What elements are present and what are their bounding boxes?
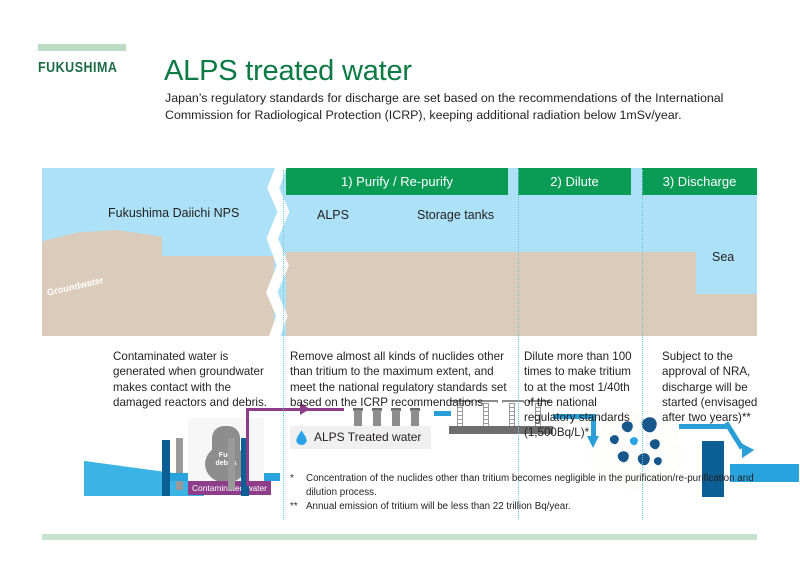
process-diagram: 1) Purify / Re-purify 2) Dilute 3) Disch… — [42, 168, 757, 336]
description-column-dilute: Dilute more than 100 times to make triti… — [524, 349, 636, 441]
support-pile-right — [228, 438, 235, 490]
column-divider-3 — [642, 170, 643, 520]
column-text: Remove almost all kinds of nuclides othe… — [290, 349, 510, 410]
logo-accent-bar — [38, 44, 126, 51]
fuel-debris-label: Fuel debris — [209, 452, 243, 468]
footnote-text: Concentration of the nuclides other than… — [306, 472, 770, 500]
step-header-purify: 1) Purify / Re-purify — [286, 168, 508, 195]
footnotes: * Concentration of the nuclides other th… — [290, 472, 770, 514]
page-title: ALPS treated water — [164, 55, 412, 88]
water-drop-icon — [296, 430, 307, 445]
footnote-single-asterisk: * Concentration of the nuclides other th… — [290, 472, 770, 500]
bottom-accent-rule — [42, 534, 757, 540]
terrain-right — [286, 252, 696, 336]
column-divider-2 — [518, 170, 519, 520]
label-fukushima-daiichi-nps: Fukushima Daiichi NPS — [108, 206, 239, 220]
alps-treated-water-badge: ALPS Treated water — [290, 426, 431, 449]
fukushima-logo: FUKUSHIMA — [38, 44, 128, 76]
terrain-left — [42, 256, 274, 336]
seawall-pile-left — [162, 440, 170, 496]
description-column-contamination: Contaminated water is generated when gro… — [113, 349, 275, 410]
terrain-hill — [42, 230, 162, 260]
column-text: Contaminated water is generated when gro… — [113, 349, 275, 410]
step-header-discharge: 3) Discharge — [642, 168, 757, 195]
description-column-purify: Remove almost all kinds of nuclides othe… — [290, 349, 510, 450]
step-header-dilute: 2) Dilute — [518, 168, 631, 195]
footnote-text: Annual emission of tritium will be less … — [306, 500, 770, 514]
label-storage-tanks: Storage tanks — [417, 208, 494, 222]
support-pile-left — [176, 438, 183, 490]
column-text: Subject to the approval of NRA, discharg… — [662, 349, 766, 425]
label-alps: ALPS — [317, 208, 349, 222]
transfer-pipe-vertical — [246, 408, 249, 486]
page-subtitle: Japan’s regulatory standards for dischar… — [165, 90, 765, 123]
footnote-marker: ** — [290, 500, 306, 514]
alps-treated-water-label: ALPS Treated water — [314, 430, 421, 445]
sea-surface-waves — [730, 461, 799, 468]
column-divider-1 — [283, 170, 284, 520]
page-header: FUKUSHIMA ALPS treated water Japan’s reg… — [0, 0, 800, 150]
label-sea: Sea — [712, 250, 734, 264]
logo-wordmark: FUKUSHIMA — [38, 60, 115, 76]
column-text: Dilute more than 100 times to make triti… — [524, 349, 636, 441]
terrain-far — [642, 294, 757, 336]
footnote-marker: * — [290, 472, 306, 500]
footnote-double-asterisk: ** Annual emission of tritium will be le… — [290, 500, 770, 514]
description-column-discharge: Subject to the approval of NRA, discharg… — [662, 349, 766, 425]
